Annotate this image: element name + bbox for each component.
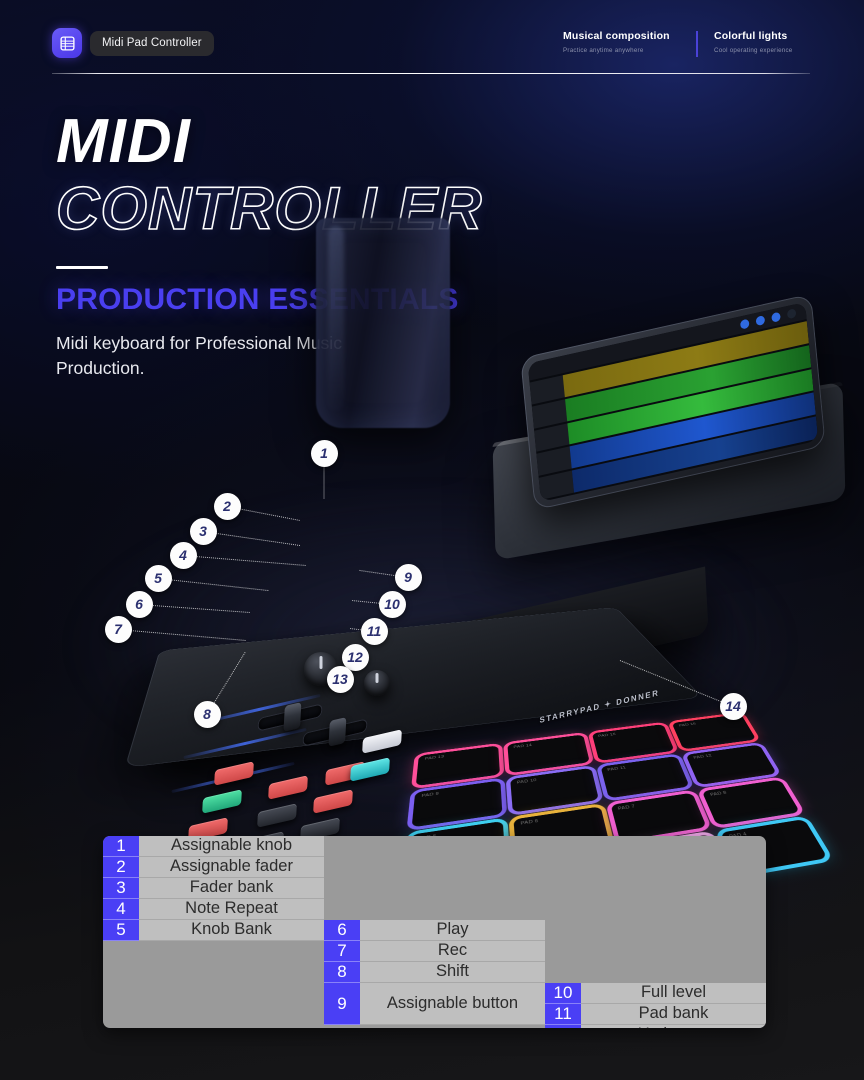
legend-label-3: Fader bank (139, 878, 324, 899)
pad[interactable]: PAD 12 (686, 744, 777, 784)
legend-number-6: 6 (324, 920, 360, 941)
legend-label-12: Up button (581, 1025, 766, 1028)
legend-number-9: 9 (324, 983, 360, 1025)
pad-label: PAD 8 (709, 790, 727, 797)
callout-marker-14: 14 (720, 693, 747, 720)
legend-number-12: 12 (545, 1025, 581, 1028)
daw-toolbar-dot (787, 308, 797, 319)
legend-number-3: 3 (103, 878, 139, 899)
glass-cup-prop (316, 218, 450, 428)
legend-label-2: Assignable fader (139, 857, 324, 878)
product-photo: STARRYPAD ✦ DONNER PAD 13PAD 14PAD 15PAD… (0, 300, 864, 830)
pad-label: PAD 11 (607, 766, 626, 772)
pad-label: PAD 7 (617, 804, 635, 811)
callout-marker-8: 8 (194, 701, 221, 728)
daw-toolbar-dot (740, 319, 750, 330)
tagline-title: Musical composition (563, 30, 686, 42)
legend-number-1: 1 (103, 836, 139, 857)
pad[interactable]: PAD 16 (672, 714, 756, 749)
pad-label: PAD 15 (598, 733, 617, 739)
callout-marker-7: 7 (105, 616, 132, 643)
callout-marker-10: 10 (379, 591, 406, 618)
tagline-title: Colorful lights (714, 30, 820, 42)
legend-label-5: Knob Bank (139, 920, 324, 941)
legend-label-6: Play (360, 920, 545, 941)
pad[interactable]: PAD 14 (507, 735, 589, 774)
legend-number-11: 11 (545, 1004, 581, 1025)
legend-number-2: 2 (103, 857, 139, 878)
pad[interactable]: PAD 7 (610, 792, 707, 841)
hero-accent-bar (56, 266, 108, 269)
pad-label: PAD 9 (421, 792, 439, 799)
assignable-knob[interactable] (364, 670, 390, 696)
header-taglines: Musical composition Practice anytime any… (563, 30, 820, 57)
app-name-label: Midi Pad Controller (90, 31, 214, 56)
callout-marker-5: 5 (145, 565, 172, 592)
legend-label-8: Shift (360, 962, 545, 983)
daw-toolbar-dot (771, 312, 781, 323)
legend-number-7: 7 (324, 941, 360, 962)
legend-table: 1Assignable knob2Assignable fader3Fader … (103, 836, 766, 1028)
tagline-subtitle: Practice anytime anywhere (563, 47, 686, 54)
grid-list-icon (52, 28, 82, 58)
tagline-subtitle: Cool operating experience (714, 47, 820, 54)
pad-label: PAD 16 (678, 722, 696, 727)
legend-label-10: Full level (581, 983, 766, 1004)
pad[interactable]: PAD 15 (591, 724, 674, 761)
legend-label-4: Note Repeat (139, 899, 324, 920)
tagline-colorful-lights: Colorful lights Cool operating experienc… (698, 30, 820, 54)
callout-marker-1: 1 (311, 440, 338, 467)
pad-label: PAD 6 (520, 818, 538, 825)
legend-number-8: 8 (324, 962, 360, 983)
pad[interactable]: PAD 10 (510, 768, 598, 812)
legend-number-4: 4 (103, 899, 139, 920)
callout-marker-4: 4 (170, 542, 197, 569)
pad-label: PAD 14 (513, 743, 532, 749)
callout-marker-3: 3 (190, 518, 217, 545)
callout-marker-11: 11 (361, 618, 388, 645)
pad[interactable]: PAD 9 (412, 780, 502, 827)
callout-marker-13: 13 (327, 666, 354, 693)
page-header: Midi Pad Controller Musical composition … (0, 0, 864, 90)
brand-badge[interactable]: Midi Pad Controller (52, 28, 214, 58)
pad[interactable]: PAD 11 (600, 756, 690, 798)
legend-label-7: Rec (360, 941, 545, 962)
legend-number-10: 10 (545, 983, 581, 1004)
tagline-musical-composition: Musical composition Practice anytime any… (563, 30, 696, 54)
callout-marker-2: 2 (214, 493, 241, 520)
pad-label: PAD 12 (693, 754, 713, 760)
daw-toolbar-dot (756, 315, 766, 326)
hero-title-line1: MIDI (56, 110, 576, 173)
pad-label: PAD 13 (425, 755, 445, 761)
pad[interactable]: PAD 13 (416, 746, 500, 786)
midi-controller-device: STARRYPAD ✦ DONNER PAD 13PAD 14PAD 15PAD… (140, 480, 730, 770)
callout-marker-6: 6 (126, 591, 153, 618)
legend-number-5: 5 (103, 920, 139, 941)
callout-marker-9: 9 (395, 564, 422, 591)
header-divider (52, 73, 810, 74)
legend-label-11: Pad bank (581, 1004, 766, 1025)
legend-label-9: Assignable button (360, 983, 545, 1025)
page-background: Midi Pad Controller Musical composition … (0, 0, 864, 1080)
legend-label-1: Assignable knob (139, 836, 324, 857)
pad-label: PAD 10 (517, 778, 537, 785)
